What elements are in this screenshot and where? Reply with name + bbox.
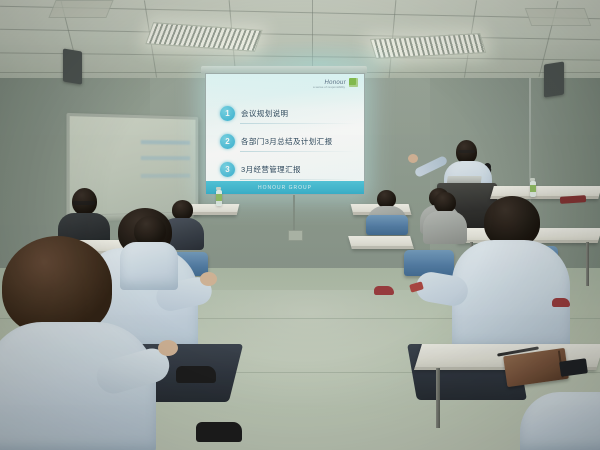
attendee-hand bbox=[158, 340, 178, 356]
agenda-item: 3 3月经营管理汇报 bbox=[220, 156, 356, 183]
table-mid-center-right bbox=[348, 236, 414, 249]
agenda-item-label: 3月经营管理汇报 bbox=[241, 164, 301, 175]
wall-outlet bbox=[288, 230, 303, 241]
whiteboard-writing bbox=[141, 140, 190, 186]
slide-footer-bar: HONOUR GROUP bbox=[206, 181, 364, 194]
logo-tagline: a sense of responsibility bbox=[313, 85, 345, 89]
attendee-far-right-edge bbox=[520, 392, 600, 450]
agenda-number-badge: 3 bbox=[220, 162, 235, 177]
agenda-item: 2 各部门3月总结及计划汇报 bbox=[220, 128, 356, 155]
attendee-shoulder bbox=[520, 392, 600, 450]
bottle-cap bbox=[530, 178, 535, 181]
agenda-underline bbox=[240, 179, 356, 180]
ceiling-vent bbox=[525, 8, 592, 26]
slide-logo: Honour a sense of responsibility bbox=[325, 78, 358, 87]
water-bottle bbox=[216, 190, 222, 206]
table-leg bbox=[586, 242, 589, 286]
attendee-torso bbox=[120, 242, 178, 290]
shoe bbox=[176, 366, 216, 383]
screen-cable bbox=[293, 195, 295, 231]
attendee-right-front bbox=[452, 196, 570, 366]
attendee-hand bbox=[200, 272, 217, 286]
shoe bbox=[196, 422, 242, 442]
slide-agenda-list: 1 会议规划说明 2 各部门3月总结及计划汇报 3 3月经营管理汇报 bbox=[220, 100, 356, 184]
table-edge bbox=[351, 246, 414, 249]
agenda-item-label: 会议规划说明 bbox=[241, 108, 288, 119]
chair bbox=[366, 215, 408, 235]
attendee-left-rear bbox=[120, 216, 178, 288]
attendee-torso bbox=[452, 240, 570, 350]
slide-footer-text: HONOUR GROUP bbox=[258, 185, 312, 191]
presenter-hand bbox=[408, 154, 418, 163]
ceiling-vent bbox=[48, 0, 113, 18]
water-bottle bbox=[530, 181, 536, 197]
attendee-glasses-icon bbox=[73, 201, 95, 205]
bottle-cap bbox=[216, 187, 221, 190]
agenda-number-badge: 1 bbox=[220, 106, 235, 121]
presenter-glasses-icon bbox=[458, 150, 475, 153]
wall-speaker-left bbox=[63, 48, 82, 84]
conference-room-photo: Honour a sense of responsibility 1 会议规划说… bbox=[0, 0, 600, 450]
agenda-underline bbox=[240, 151, 356, 152]
projection-screen: Honour a sense of responsibility 1 会议规划说… bbox=[205, 73, 365, 195]
shoe bbox=[552, 298, 570, 307]
wall-speaker-right bbox=[544, 61, 564, 97]
table-leg bbox=[436, 368, 440, 428]
attendee-head bbox=[2, 236, 112, 336]
logo-mark-icon bbox=[349, 78, 358, 87]
agenda-item-label: 各部门3月总结及计划汇报 bbox=[241, 136, 332, 147]
shoe bbox=[374, 286, 394, 295]
agenda-item: 1 会议规划说明 bbox=[220, 100, 356, 127]
agenda-underline bbox=[240, 123, 356, 124]
agenda-number-badge: 2 bbox=[220, 134, 235, 149]
